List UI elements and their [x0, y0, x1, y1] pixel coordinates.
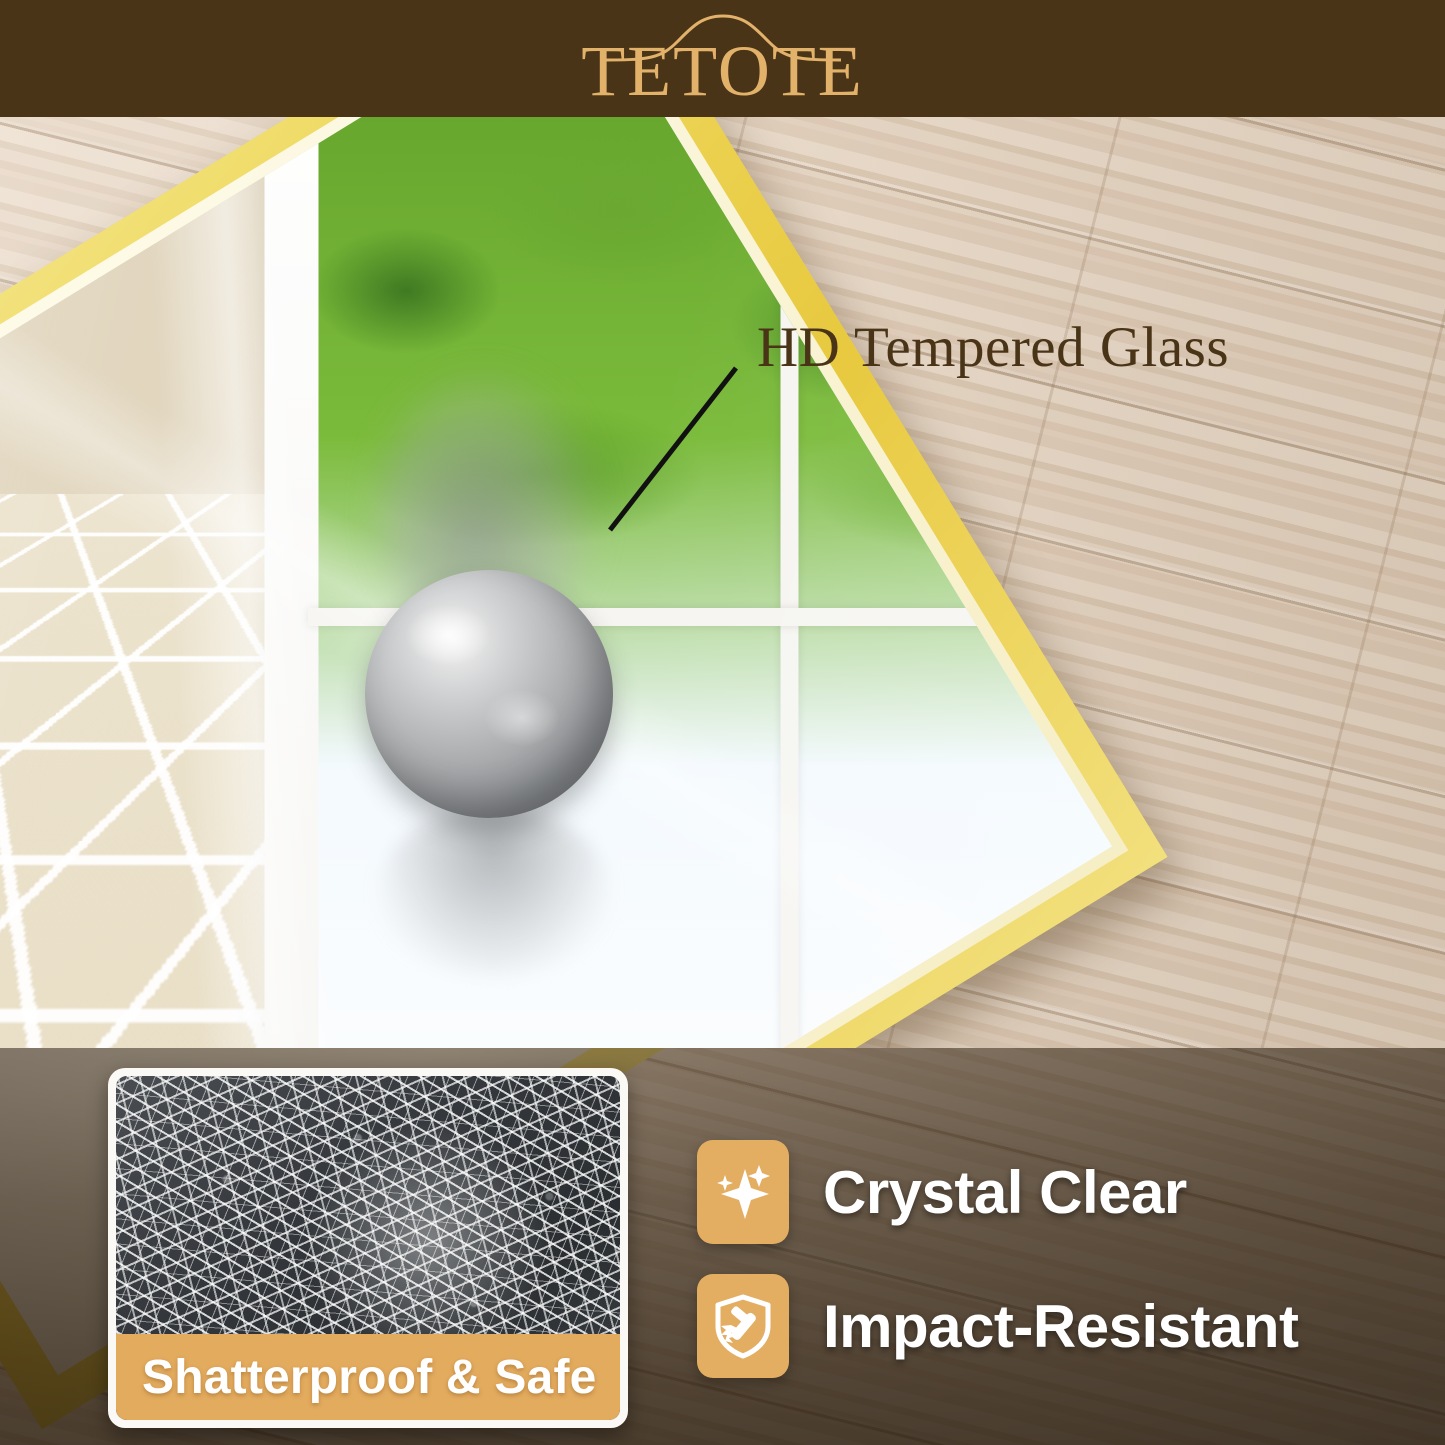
- callout-label: HD Tempered Glass: [757, 315, 1229, 380]
- leader-line-icon: [600, 362, 745, 537]
- sparkle-icon: [697, 1140, 789, 1244]
- ball-reflection: [380, 807, 608, 977]
- feature-label-impact-resistant: Impact-Resistant: [823, 1292, 1298, 1361]
- inset-caption-bar: Shatterproof & Safe: [116, 1334, 620, 1420]
- feature-item-crystal-clear: Crystal Clear: [697, 1140, 1298, 1244]
- steel-ball-icon: [365, 570, 613, 818]
- brand-header: TETOTE: [0, 0, 1445, 117]
- inset-caption-label: Shatterproof & Safe: [116, 1350, 597, 1405]
- ball-highlight: [405, 604, 491, 666]
- inset-image-frame: Shatterproof & Safe: [116, 1076, 620, 1420]
- feature-label-crystal-clear: Crystal Clear: [823, 1158, 1187, 1227]
- feature-list: Crystal Clear Impact-Resistant: [697, 1140, 1298, 1408]
- feature-item-impact-resistant: Impact-Resistant: [697, 1274, 1298, 1378]
- brand-logo: TETOTE: [558, 6, 888, 111]
- shatterproof-inset-card: Shatterproof & Safe: [108, 1068, 628, 1428]
- shield-hammer-icon: [697, 1274, 789, 1378]
- product-marketing-image: HD Tempered Glass Shatterproof & Safe: [0, 0, 1445, 1445]
- ball-secondary-highlight: [485, 690, 559, 746]
- arch-flourish-icon: [603, 12, 843, 62]
